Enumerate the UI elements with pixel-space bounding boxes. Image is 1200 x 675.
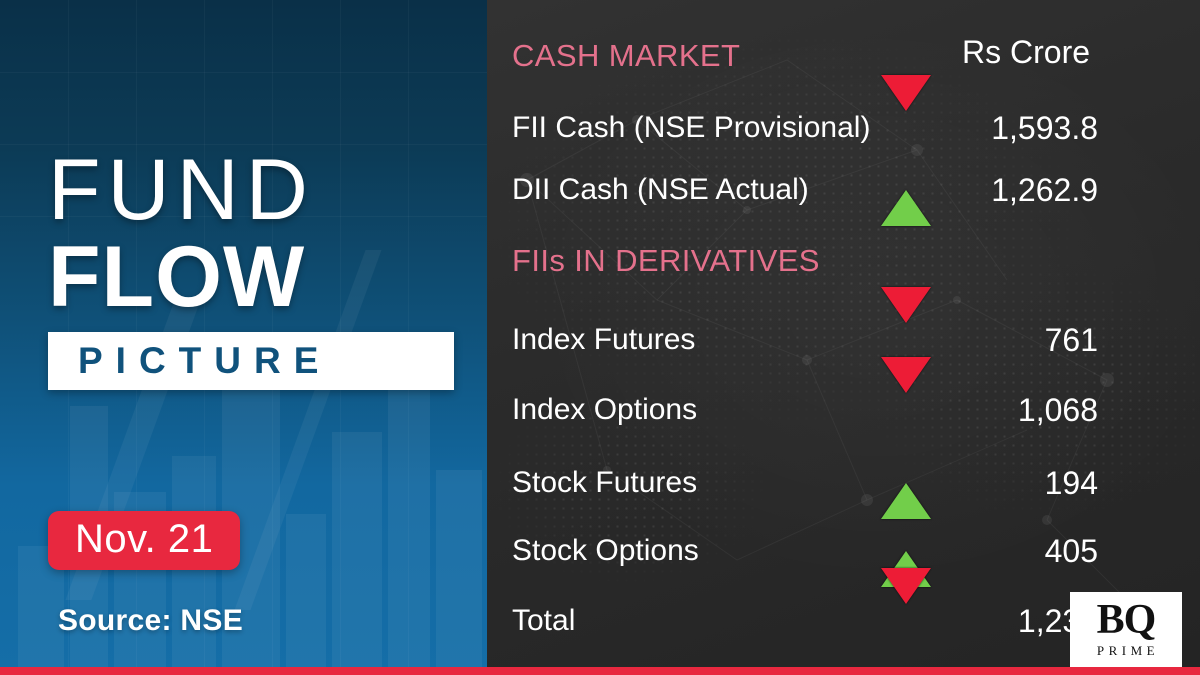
- date-badge: Nov. 21: [48, 511, 240, 570]
- bar-decoration: [388, 350, 430, 668]
- bq-logo-mark: BQ: [1097, 601, 1156, 640]
- table-row: Index Futures 761: [487, 316, 1200, 364]
- trend-down-icon: [881, 393, 931, 429]
- row-label: FII Cash (NSE Provisional): [512, 104, 870, 152]
- row-value: 194: [1045, 459, 1098, 507]
- section-title-cash-market: CASH MARKET: [512, 38, 740, 74]
- row-value: 1,262.9: [991, 166, 1098, 214]
- infographic-canvas: FUND FLOW PICTURE Nov. 21 Source: NSE: [0, 0, 1200, 675]
- data-panel: CASH MARKET Rs Crore FII Cash (NSE Provi…: [487, 0, 1200, 675]
- bq-prime-logo: BQ PRIME: [1070, 592, 1182, 668]
- table-row: DII Cash (NSE Actual) 1,262.9: [487, 166, 1200, 214]
- table-row: FII Cash (NSE Provisional) 1,593.8: [487, 104, 1200, 152]
- brand-word-picture: PICTURE: [48, 340, 331, 382]
- row-label: Total: [512, 597, 575, 645]
- brand-word-fund: FUND: [48, 150, 468, 232]
- bottom-accent-strip: [0, 667, 1200, 675]
- trend-up-icon: [881, 534, 931, 570]
- row-label: Index Options: [512, 386, 697, 434]
- trend-up-icon: [881, 173, 931, 209]
- table-row: Stock Options 405: [487, 527, 1200, 575]
- bar-decoration: [286, 514, 326, 668]
- source-label: Source: NSE: [58, 604, 243, 638]
- row-value: 1,593.8: [991, 104, 1098, 152]
- brand-word-flow: FLOW: [48, 234, 468, 320]
- trend-up-icon: [881, 466, 931, 502]
- row-value: 1,068: [1018, 386, 1098, 434]
- bar-decoration: [436, 470, 482, 668]
- trend-down-icon: [881, 323, 931, 359]
- row-value: 761: [1045, 316, 1098, 364]
- row-value: 405: [1045, 527, 1098, 575]
- section-title-fiis-in-derivatives: FIIs IN DERIVATIVES: [512, 243, 820, 279]
- row-label: Index Futures: [512, 316, 695, 364]
- table-row: Index Options 1,068: [487, 386, 1200, 434]
- table-row: Stock Futures 194: [487, 459, 1200, 507]
- row-label: DII Cash (NSE Actual): [512, 166, 809, 214]
- row-label: Stock Options: [512, 527, 699, 575]
- date-badge-label: Nov. 21: [75, 517, 213, 561]
- trend-down-icon: [881, 604, 931, 640]
- bar-decoration: [332, 432, 382, 668]
- grid-line: [0, 72, 487, 73]
- brand-picture-band: PICTURE: [48, 332, 454, 390]
- row-label: Stock Futures: [512, 459, 697, 507]
- trend-down-icon: [881, 111, 931, 147]
- unit-label: Rs Crore: [962, 34, 1090, 71]
- brand-panel: FUND FLOW PICTURE Nov. 21 Source: NSE: [0, 0, 487, 675]
- brand-lockup: FUND FLOW PICTURE: [48, 150, 468, 390]
- bq-logo-wordmark: PRIME: [1093, 643, 1159, 659]
